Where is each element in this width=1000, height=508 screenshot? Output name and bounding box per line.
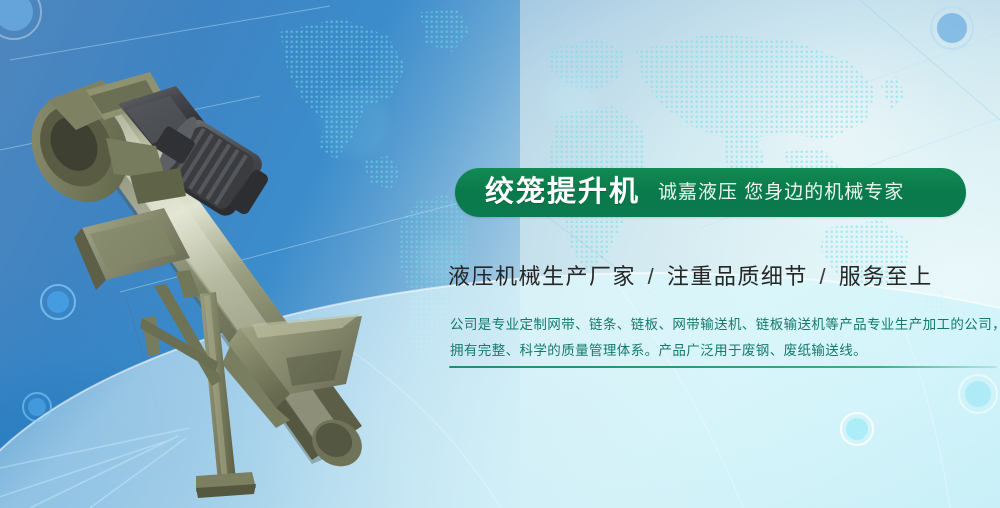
product-title: 绞笼提升机 (485, 178, 640, 207)
headline-part-3: 服务至上 (839, 264, 933, 289)
description-line-2: 拥有完整、科学的质量管理体系。产品广泛用于废钢、废纸输送线。 (450, 338, 995, 364)
circle-bottom-right (958, 374, 998, 414)
headline-separator-2: / (816, 264, 832, 289)
product-title-pill: 绞笼提升机 诚嘉液压 您身边的机械专家 (455, 168, 966, 217)
description-line-1: 公司是专业定制网带、链条、链板、网带输送机、链板输送机等产品专业生产加工的公司， (450, 312, 995, 338)
promo-banner: 绞笼提升机 诚嘉液压 您身边的机械专家 液压机械生产厂家 / 注重品质细节 / … (0, 0, 1000, 508)
circle-globe-arc (840, 412, 874, 446)
headline-part-1: 液压机械生产厂家 (448, 264, 636, 289)
company-description: 公司是专业定制网带、链条、链板、网带输送机、链板输送机等产品专业生产加工的公司，… (450, 312, 995, 364)
feature-headline: 液压机械生产厂家 / 注重品质细节 / 服务至上 (448, 259, 933, 291)
headline-separator-1: / (644, 264, 660, 289)
circle-mid-right (606, 140, 634, 168)
headline-part-2: 注重品质细节 (667, 264, 808, 289)
circle-top-right (930, 6, 974, 50)
company-slogan: 诚嘉液压 您身边的机械专家 (658, 183, 904, 202)
screw-conveyor-machine (0, 28, 410, 498)
section-divider (449, 366, 997, 368)
